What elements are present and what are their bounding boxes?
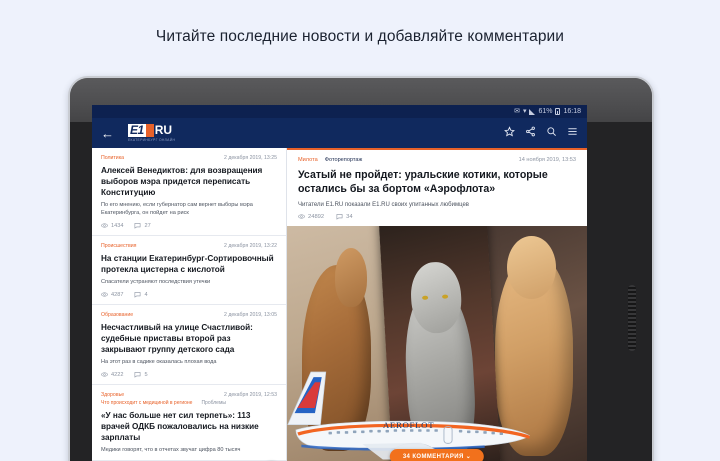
article-header: Милота Фоторепортаж 14 ноября 2019, 13:5… bbox=[287, 150, 587, 226]
news-stats: 4222 5 bbox=[101, 371, 277, 378]
article-views-stat: 24892 bbox=[298, 213, 324, 220]
views-stat: 1434 bbox=[101, 222, 123, 229]
screenshot-stage: Читайте последние новости и добавляйте к… bbox=[0, 0, 720, 461]
logo-ru-text: RU bbox=[154, 124, 172, 137]
tablet-speaker-grille bbox=[628, 285, 636, 351]
news-lead: На этот раз в садике оказалась плохая во… bbox=[101, 358, 277, 366]
comments-button-label: 34 КОММЕНТАРИЯ bbox=[403, 454, 464, 460]
news-title[interactable]: Алексей Венедиктов: для возвращения выбо… bbox=[101, 165, 277, 198]
tablet-screen: ✉ ▾ 61% 16:18 ← E1 RU ЕКАТЕРИНБУРГ ОНЛАЙ… bbox=[92, 105, 587, 461]
wifi-icon: ▾ bbox=[523, 108, 527, 115]
news-item-meta: Политика 2 декабря 2019, 13:25 bbox=[101, 155, 277, 161]
comments-stat: 4 bbox=[134, 291, 147, 298]
news-item-meta: Образование 2 декабря 2019, 13:05 bbox=[101, 312, 277, 318]
views-stat: 4222 bbox=[101, 371, 123, 378]
list-item[interactable]: Политика 2 декабря 2019, 13:25 Алексей В… bbox=[92, 148, 286, 236]
news-date: 2 декабря 2019, 13:22 bbox=[224, 243, 277, 249]
comments-stat: 27 bbox=[134, 222, 150, 229]
logo-orange-square bbox=[146, 124, 154, 137]
comments-count: 27 bbox=[144, 223, 150, 229]
signal-icon bbox=[529, 109, 535, 115]
news-tag-theme[interactable]: Что происходит с медициной в регионе bbox=[101, 400, 192, 406]
list-item[interactable]: Здоровье 2 декабря 2019, 12:53 Что проис… bbox=[92, 385, 286, 461]
views-count: 4287 bbox=[111, 292, 123, 298]
news-feed-list[interactable]: Политика 2 декабря 2019, 13:25 Алексей В… bbox=[92, 148, 287, 461]
comment-icon bbox=[134, 222, 141, 229]
comments-count: 4 bbox=[144, 292, 147, 298]
article-date: 14 ноября 2019, 13:53 bbox=[519, 157, 576, 163]
article-lead: Читатели E1.RU показали E1.RU своих упит… bbox=[298, 202, 576, 208]
news-date: 2 декабря 2019, 12:53 bbox=[224, 392, 277, 398]
news-date: 2 декабря 2019, 13:25 bbox=[224, 155, 277, 161]
news-item-meta: Происшествия 2 декабря 2019, 13:22 bbox=[101, 243, 277, 249]
comment-icon bbox=[134, 371, 141, 378]
battery-icon bbox=[555, 108, 560, 115]
share-icon[interactable] bbox=[525, 126, 536, 140]
logo-e1-text: E1 bbox=[128, 124, 146, 137]
news-rubric[interactable]: Происшествия bbox=[101, 243, 136, 249]
news-rubric[interactable]: Образование bbox=[101, 312, 133, 318]
cat-bengal-head bbox=[335, 248, 367, 307]
article-stats: 24892 34 bbox=[298, 213, 576, 220]
views-count: 1434 bbox=[111, 223, 123, 229]
news-date: 2 декабря 2019, 13:05 bbox=[224, 312, 277, 318]
news-item-meta: Здоровье 2 декабря 2019, 12:53 bbox=[101, 392, 277, 398]
article-meta-row: Милота Фоторепортаж 14 ноября 2019, 13:5… bbox=[298, 157, 576, 163]
news-stats: 4287 4 bbox=[101, 291, 277, 298]
menu-icon[interactable] bbox=[567, 126, 578, 140]
cat-eye-right bbox=[442, 294, 448, 299]
article-detail-pane: Милота Фоторепортаж 14 ноября 2019, 13:5… bbox=[287, 148, 587, 461]
aeroflot-airplane-overlay: AEROFLOT bbox=[287, 363, 539, 461]
news-rubric[interactable]: Политика bbox=[101, 155, 124, 161]
android-status-bar: ✉ ▾ 61% 16:18 bbox=[92, 105, 587, 118]
app-content: Политика 2 декабря 2019, 13:25 Алексей В… bbox=[92, 148, 587, 461]
list-item[interactable]: Образование 2 декабря 2019, 13:05 Несчас… bbox=[92, 305, 286, 385]
news-lead: По его мнению, если губернатор сам верне… bbox=[101, 201, 277, 217]
article-photo-collage[interactable]: AEROFLOT 34 КОММЕНТАРИЯ ⌄ bbox=[287, 226, 587, 461]
app-bar: ← E1 RU ЕКАТЕРИНБУРГ ОНЛАЙН bbox=[92, 118, 587, 148]
comments-count: 5 bbox=[144, 372, 147, 378]
message-icon: ✉ bbox=[514, 108, 520, 115]
news-title[interactable]: Несчастливый на улице Счастливой: судебн… bbox=[101, 322, 277, 355]
logo-subtitle: ЕКАТЕРИНБУРГ ОНЛАЙН bbox=[128, 138, 175, 142]
article-rubric-secondary[interactable]: Фоторепортаж bbox=[325, 157, 363, 163]
page-title: Усатый не пройдет: уральские котики, кот… bbox=[298, 168, 576, 196]
eye-icon bbox=[101, 291, 108, 298]
news-title[interactable]: «У нас больше нет сил терпеть»: 113 врач… bbox=[101, 410, 277, 443]
battery-percent-label: 61% bbox=[538, 108, 552, 115]
tablet-device-frame: ✉ ▾ 61% 16:18 ← E1 RU ЕКАТЕРИНБУРГ ОНЛАЙ… bbox=[68, 76, 654, 461]
comments-button[interactable]: 34 КОММЕНТАРИЯ ⌄ bbox=[390, 449, 484, 461]
article-rubric-primary[interactable]: Милота bbox=[298, 157, 318, 163]
news-rubric[interactable]: Здоровье bbox=[101, 392, 124, 398]
eye-icon bbox=[101, 222, 108, 229]
article-comments-count: 34 bbox=[346, 214, 352, 220]
promo-caption: Читайте последние новости и добавляйте к… bbox=[0, 28, 720, 46]
chevron-down-icon: ⌄ bbox=[466, 454, 471, 460]
news-title[interactable]: На станции Екатеринбург-Сортировочный пр… bbox=[101, 253, 277, 275]
e1ru-logo[interactable]: E1 RU ЕКАТЕРИНБУРГ ОНЛАЙН bbox=[128, 124, 175, 142]
comments-stat: 5 bbox=[134, 371, 147, 378]
views-count: 4222 bbox=[111, 372, 123, 378]
news-tag-row: Что происходит с медициной в регионе Про… bbox=[101, 400, 277, 406]
article-views-count: 24892 bbox=[308, 214, 324, 220]
search-icon[interactable] bbox=[546, 126, 557, 140]
list-item[interactable]: Происшествия 2 декабря 2019, 13:22 На ст… bbox=[92, 236, 286, 305]
comment-icon bbox=[336, 213, 343, 220]
news-lead: Спасатели устраняют последствия утечки bbox=[101, 278, 277, 286]
eye-icon bbox=[298, 213, 305, 220]
comment-icon bbox=[134, 291, 141, 298]
news-tag-topic[interactable]: Проблемы bbox=[201, 400, 226, 406]
eye-icon bbox=[101, 371, 108, 378]
news-lead: Медики говорят, что в отчетах звучат циф… bbox=[101, 446, 277, 454]
back-arrow-icon[interactable]: ← bbox=[101, 127, 114, 140]
plane-aeroflot-title: AEROFLOT bbox=[383, 420, 435, 430]
star-icon[interactable] bbox=[504, 126, 515, 140]
cat-eye-left bbox=[422, 295, 428, 300]
clock-label: 16:18 bbox=[563, 108, 581, 115]
views-stat: 4287 bbox=[101, 291, 123, 298]
news-stats: 1434 27 bbox=[101, 222, 277, 229]
article-comments-stat: 34 bbox=[336, 213, 352, 220]
article-rubrics: Милота Фоторепортаж bbox=[298, 157, 362, 163]
